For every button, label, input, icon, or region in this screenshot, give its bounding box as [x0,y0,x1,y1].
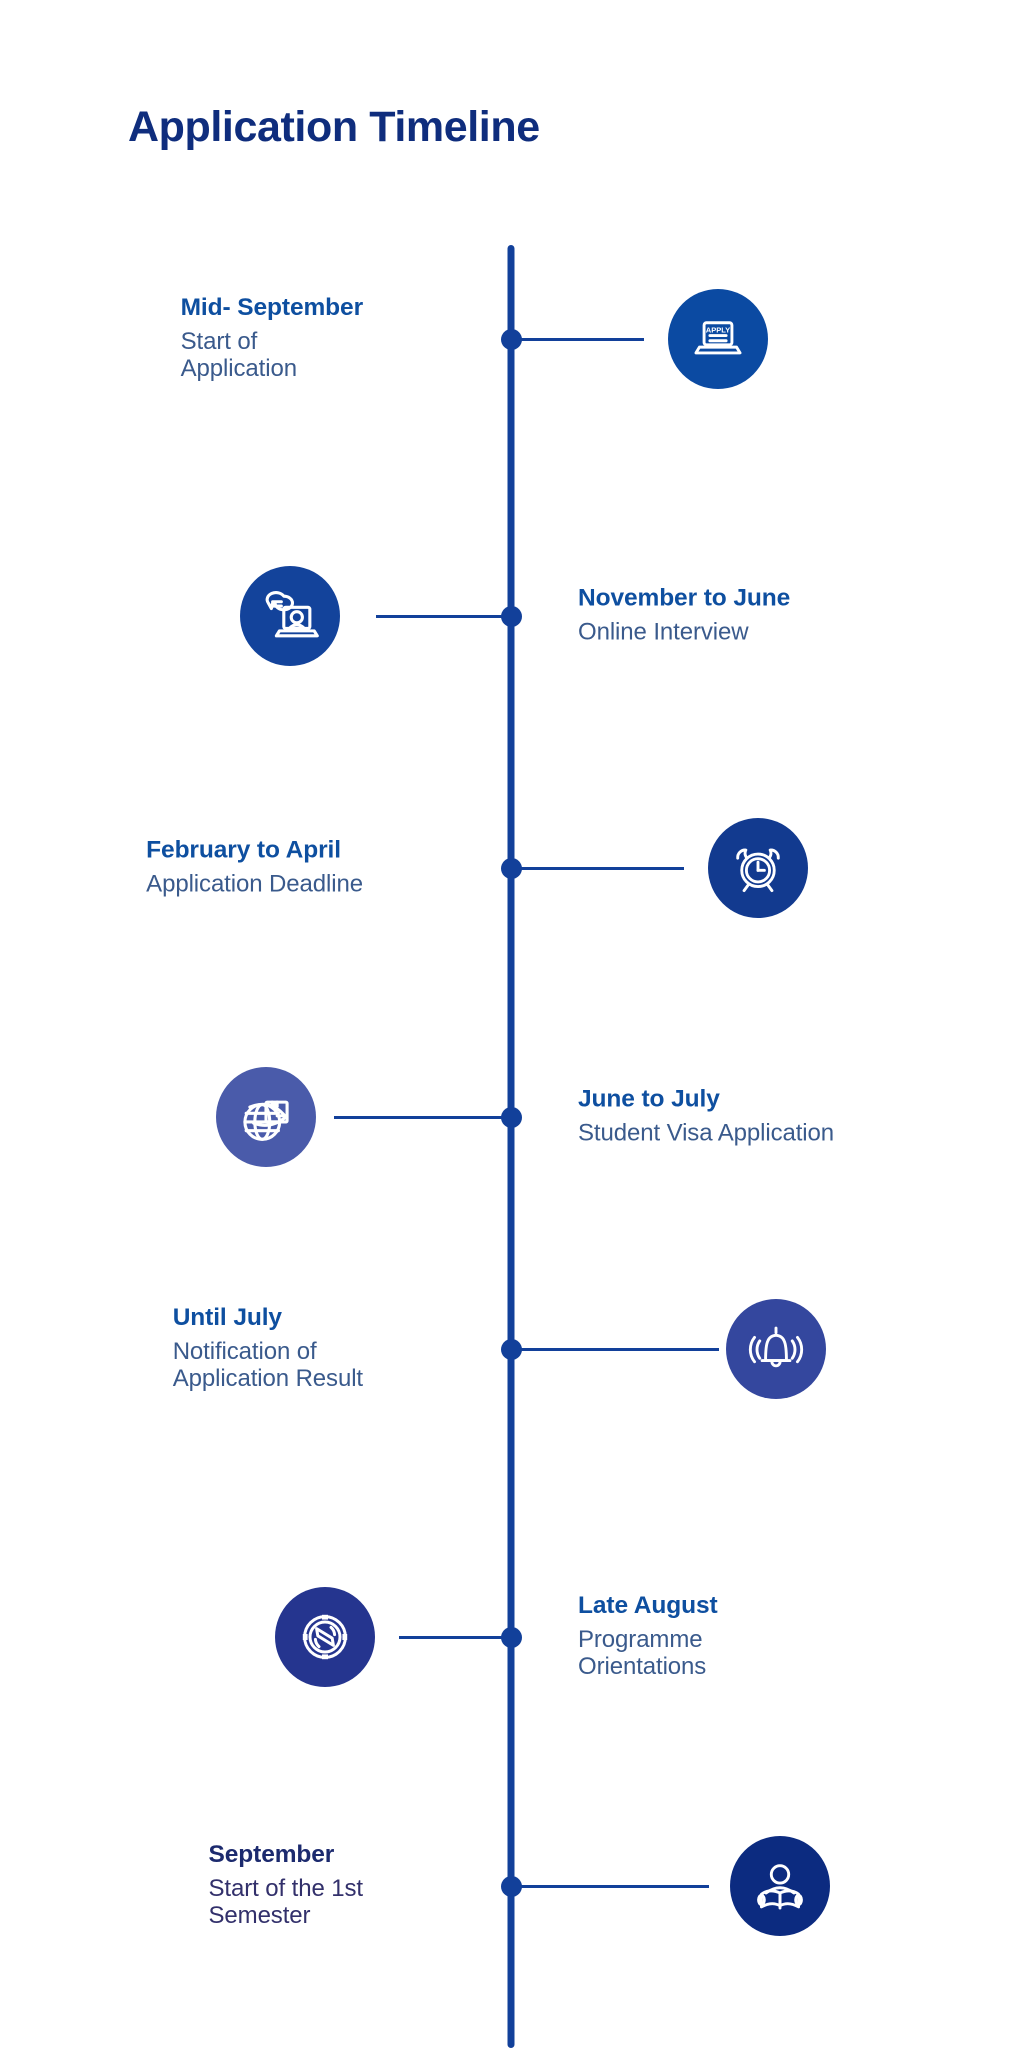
globe-parcel-visa-icon [235,1086,297,1148]
svg-text:APPLY: APPLY [706,326,730,335]
milestone-text-5: Until July Notification of Application R… [173,1306,363,1392]
timeline-connector-5 [519,1348,719,1351]
milestone-icon-6[interactable] [275,1587,375,1687]
milestone-text-1: Mid- September Start of Application [181,296,363,382]
page-title: Application Timeline [128,103,540,152]
milestone-icon-2[interactable] [240,566,340,666]
timeline-connector-2 [376,615,504,618]
timeline-spine [508,245,515,2048]
person-reading-icon [751,1857,809,1915]
timeline-connector-6 [399,1636,504,1639]
milestone-heading-7: September [209,1843,363,1868]
milestone-heading-5: Until July [173,1306,363,1331]
timeline-connector-3 [519,867,684,870]
timeline-connector-7 [519,1885,709,1888]
milestone-body-1: Start of Application [181,327,363,382]
milestone-icon-3[interactable] [708,818,808,918]
compass-icon [295,1607,355,1667]
milestone-body-4: Student Visa Application [578,1119,834,1146]
milestone-body-6: Programme Orientations [578,1625,718,1680]
laptop-apply-icon: APPLY [689,310,747,368]
milestone-heading-4: June to July [578,1088,834,1113]
ringing-bell-icon [747,1320,805,1378]
milestone-text-4: June to July Student Visa Application [578,1088,834,1147]
milestone-heading-1: Mid- September [181,296,363,321]
alarm-clock-icon [729,839,787,897]
milestone-text-7: September Start of the 1st Semester [209,1843,363,1929]
milestone-icon-5[interactable] [726,1299,826,1399]
milestone-body-5: Notification of Application Result [173,1337,363,1392]
milestone-body-7: Start of the 1st Semester [209,1874,363,1929]
milestone-text-6: Late August Programme Orientations [578,1594,718,1680]
milestone-text-2: November to June Online Interview [578,587,790,646]
timeline-connector-4 [334,1116,504,1119]
milestone-heading-3: February to April [146,839,363,864]
milestone-icon-7[interactable] [730,1836,830,1936]
milestone-icon-4[interactable] [216,1067,316,1167]
milestone-icon-1[interactable]: APPLY [668,289,768,389]
milestone-heading-6: Late August [578,1594,718,1619]
video-interview-icon [259,585,321,647]
milestone-body-2: Online Interview [578,618,790,645]
timeline-connector-1 [519,338,644,341]
milestone-body-3: Application Deadline [146,870,363,897]
milestone-text-3: February to April Application Deadline [146,839,363,898]
milestone-heading-2: November to June [578,587,790,612]
